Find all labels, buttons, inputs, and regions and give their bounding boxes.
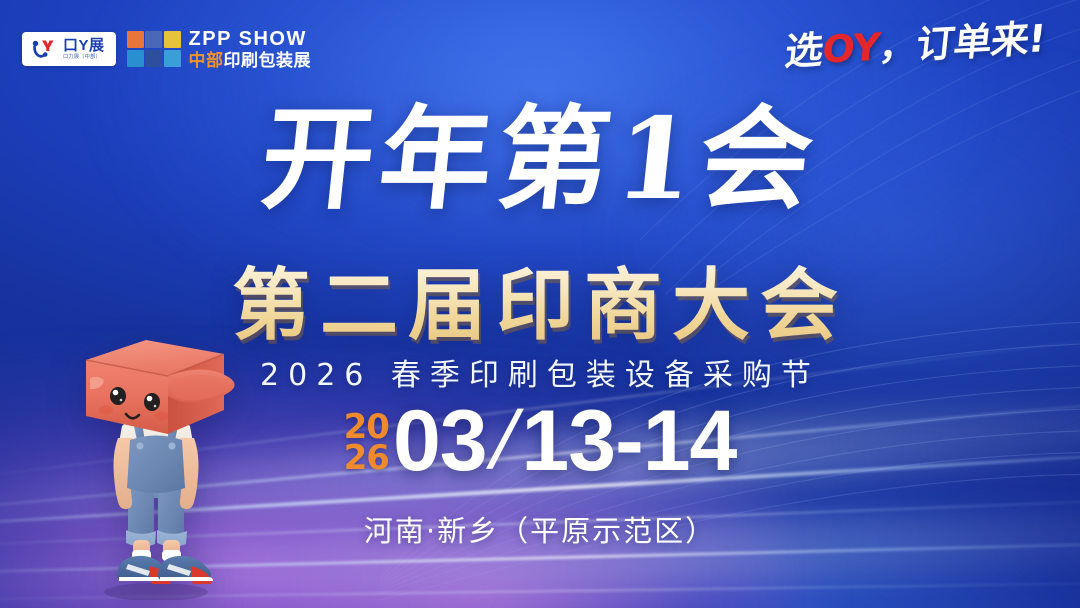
date-separator: / xyxy=(482,400,525,482)
zpp-chinese-text: 中部印刷包装展 xyxy=(189,52,312,69)
slogan-brand: OY xyxy=(820,25,882,72)
zpp-logo-text: ZPP SHOW 中部印刷包装展 xyxy=(189,29,312,69)
zpp-english-text: ZPP SHOW xyxy=(189,29,312,49)
event-poster: 口Y展 口力展（中部） ZPP SHOW 中部印刷包装展 选OY，订单来! 开年… xyxy=(0,0,1080,608)
oy-logo-main-text: 口Y展 xyxy=(63,38,105,53)
event-month: 03 xyxy=(393,398,487,484)
oy-logo-text: 口Y展 口力展（中部） xyxy=(63,38,105,61)
box-head-mascot xyxy=(72,334,240,600)
event-year: 20 26 xyxy=(344,412,389,475)
zpp-chinese-white: 印刷包装展 xyxy=(224,51,312,70)
zpp-chinese-orange: 中部 xyxy=(189,51,224,70)
oy-exhibition-logo[interactable]: 口Y展 口力展（中部） xyxy=(22,32,116,66)
zpp-show-logo[interactable]: ZPP SHOW 中部印刷包装展 xyxy=(127,29,312,69)
event-year-bottom: 26 xyxy=(344,443,389,474)
oy-logo-sub-text: 口力展（中部） xyxy=(63,55,102,60)
event-days: 13-14 xyxy=(521,398,736,484)
header-logo-bar: 口Y展 口力展（中部） ZPP SHOW 中部印刷包装展 xyxy=(22,29,311,69)
slogan-suffix: ，订单来! xyxy=(877,16,1047,69)
calligraphy-title: 开年第1会 xyxy=(0,104,1080,216)
slogan-prefix: 选 xyxy=(783,28,825,74)
oy-smile-mark-icon xyxy=(31,39,56,61)
photo-tiles-icon xyxy=(127,31,181,67)
